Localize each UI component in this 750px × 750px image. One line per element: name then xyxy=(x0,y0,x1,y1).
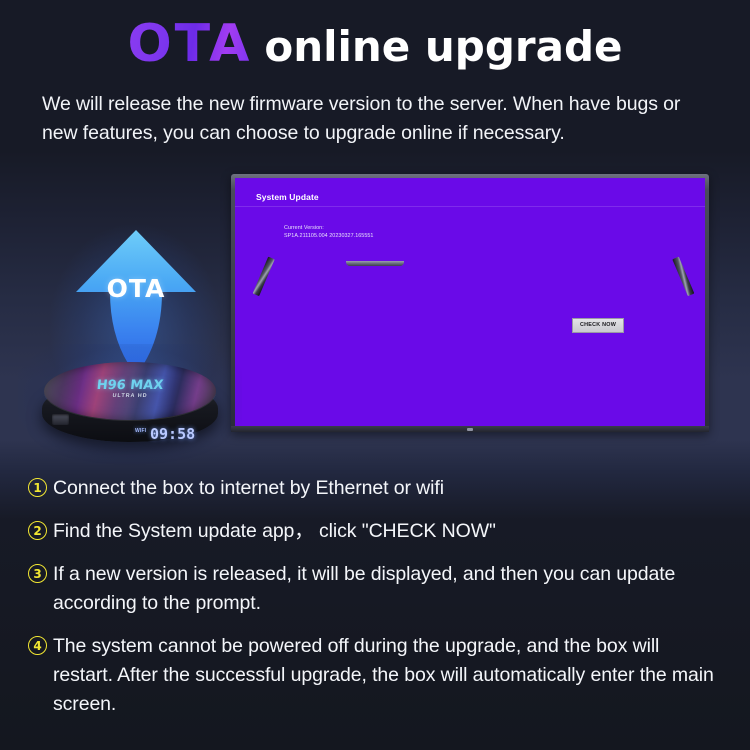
step-number: 4 xyxy=(28,636,47,655)
device-usb-port xyxy=(52,414,69,425)
step-text: Connect the box to internet by Ethernet … xyxy=(53,474,722,503)
instruction-steps: 1 Connect the box to internet by Etherne… xyxy=(28,474,722,733)
tv-screen: System Update Current Version: SP1A.2111… xyxy=(235,178,705,426)
step-text: The system cannot be powered off during … xyxy=(53,632,722,719)
led-clock: 09:58 xyxy=(150,425,195,443)
tv-brand-logo xyxy=(467,428,473,431)
system-update-title: System Update xyxy=(256,192,319,202)
current-version-block: Current Version: SP1A.211105.004 2023032… xyxy=(284,224,373,241)
list-item: 4 The system cannot be powered off durin… xyxy=(28,632,722,719)
step-number: 1 xyxy=(28,478,47,497)
poster-root: OTAonline upgrade We will release the ne… xyxy=(0,0,750,750)
system-update-header: System Update xyxy=(235,178,705,207)
arrow-label: OTA xyxy=(76,274,196,303)
page-title-highlight: OTA xyxy=(127,14,252,74)
device-led-display: WIFI 09:58 xyxy=(133,424,209,444)
list-item: 2 Find the System update app， click "CHE… xyxy=(28,517,722,546)
step-text: If a new version is released, it will be… xyxy=(53,560,722,618)
wifi-icon: WIFI xyxy=(135,428,146,434)
step-number: 3 xyxy=(28,564,47,583)
current-version-value: SP1A.211105.004 20230327.165551 xyxy=(284,232,373,240)
television-mockup: System Update Current Version: SP1A.2111… xyxy=(231,174,709,432)
tv-box-device: H96 MAX ULTRA HD WIFI 09:58 xyxy=(32,358,228,458)
page-title: OTAonline upgrade xyxy=(0,14,750,74)
step-number: 2 xyxy=(28,521,47,540)
check-now-button[interactable]: CHECK NOW xyxy=(572,318,624,333)
step-text: Find the System update app， click "CHECK… xyxy=(53,517,722,546)
list-item: 3 If a new version is released, it will … xyxy=(28,560,722,618)
tv-bottom-bezel xyxy=(231,426,709,432)
page-title-rest: online upgrade xyxy=(264,22,622,71)
device-brand-label: H96 MAX xyxy=(43,378,217,393)
current-version-label: Current Version: xyxy=(284,224,373,232)
tv-center-stand-bar xyxy=(346,261,404,266)
list-item: 1 Connect the box to internet by Etherne… xyxy=(28,474,722,503)
device-sub-label: ULTRA HD xyxy=(44,393,217,399)
description-text: We will release the new firmware version… xyxy=(42,90,714,148)
